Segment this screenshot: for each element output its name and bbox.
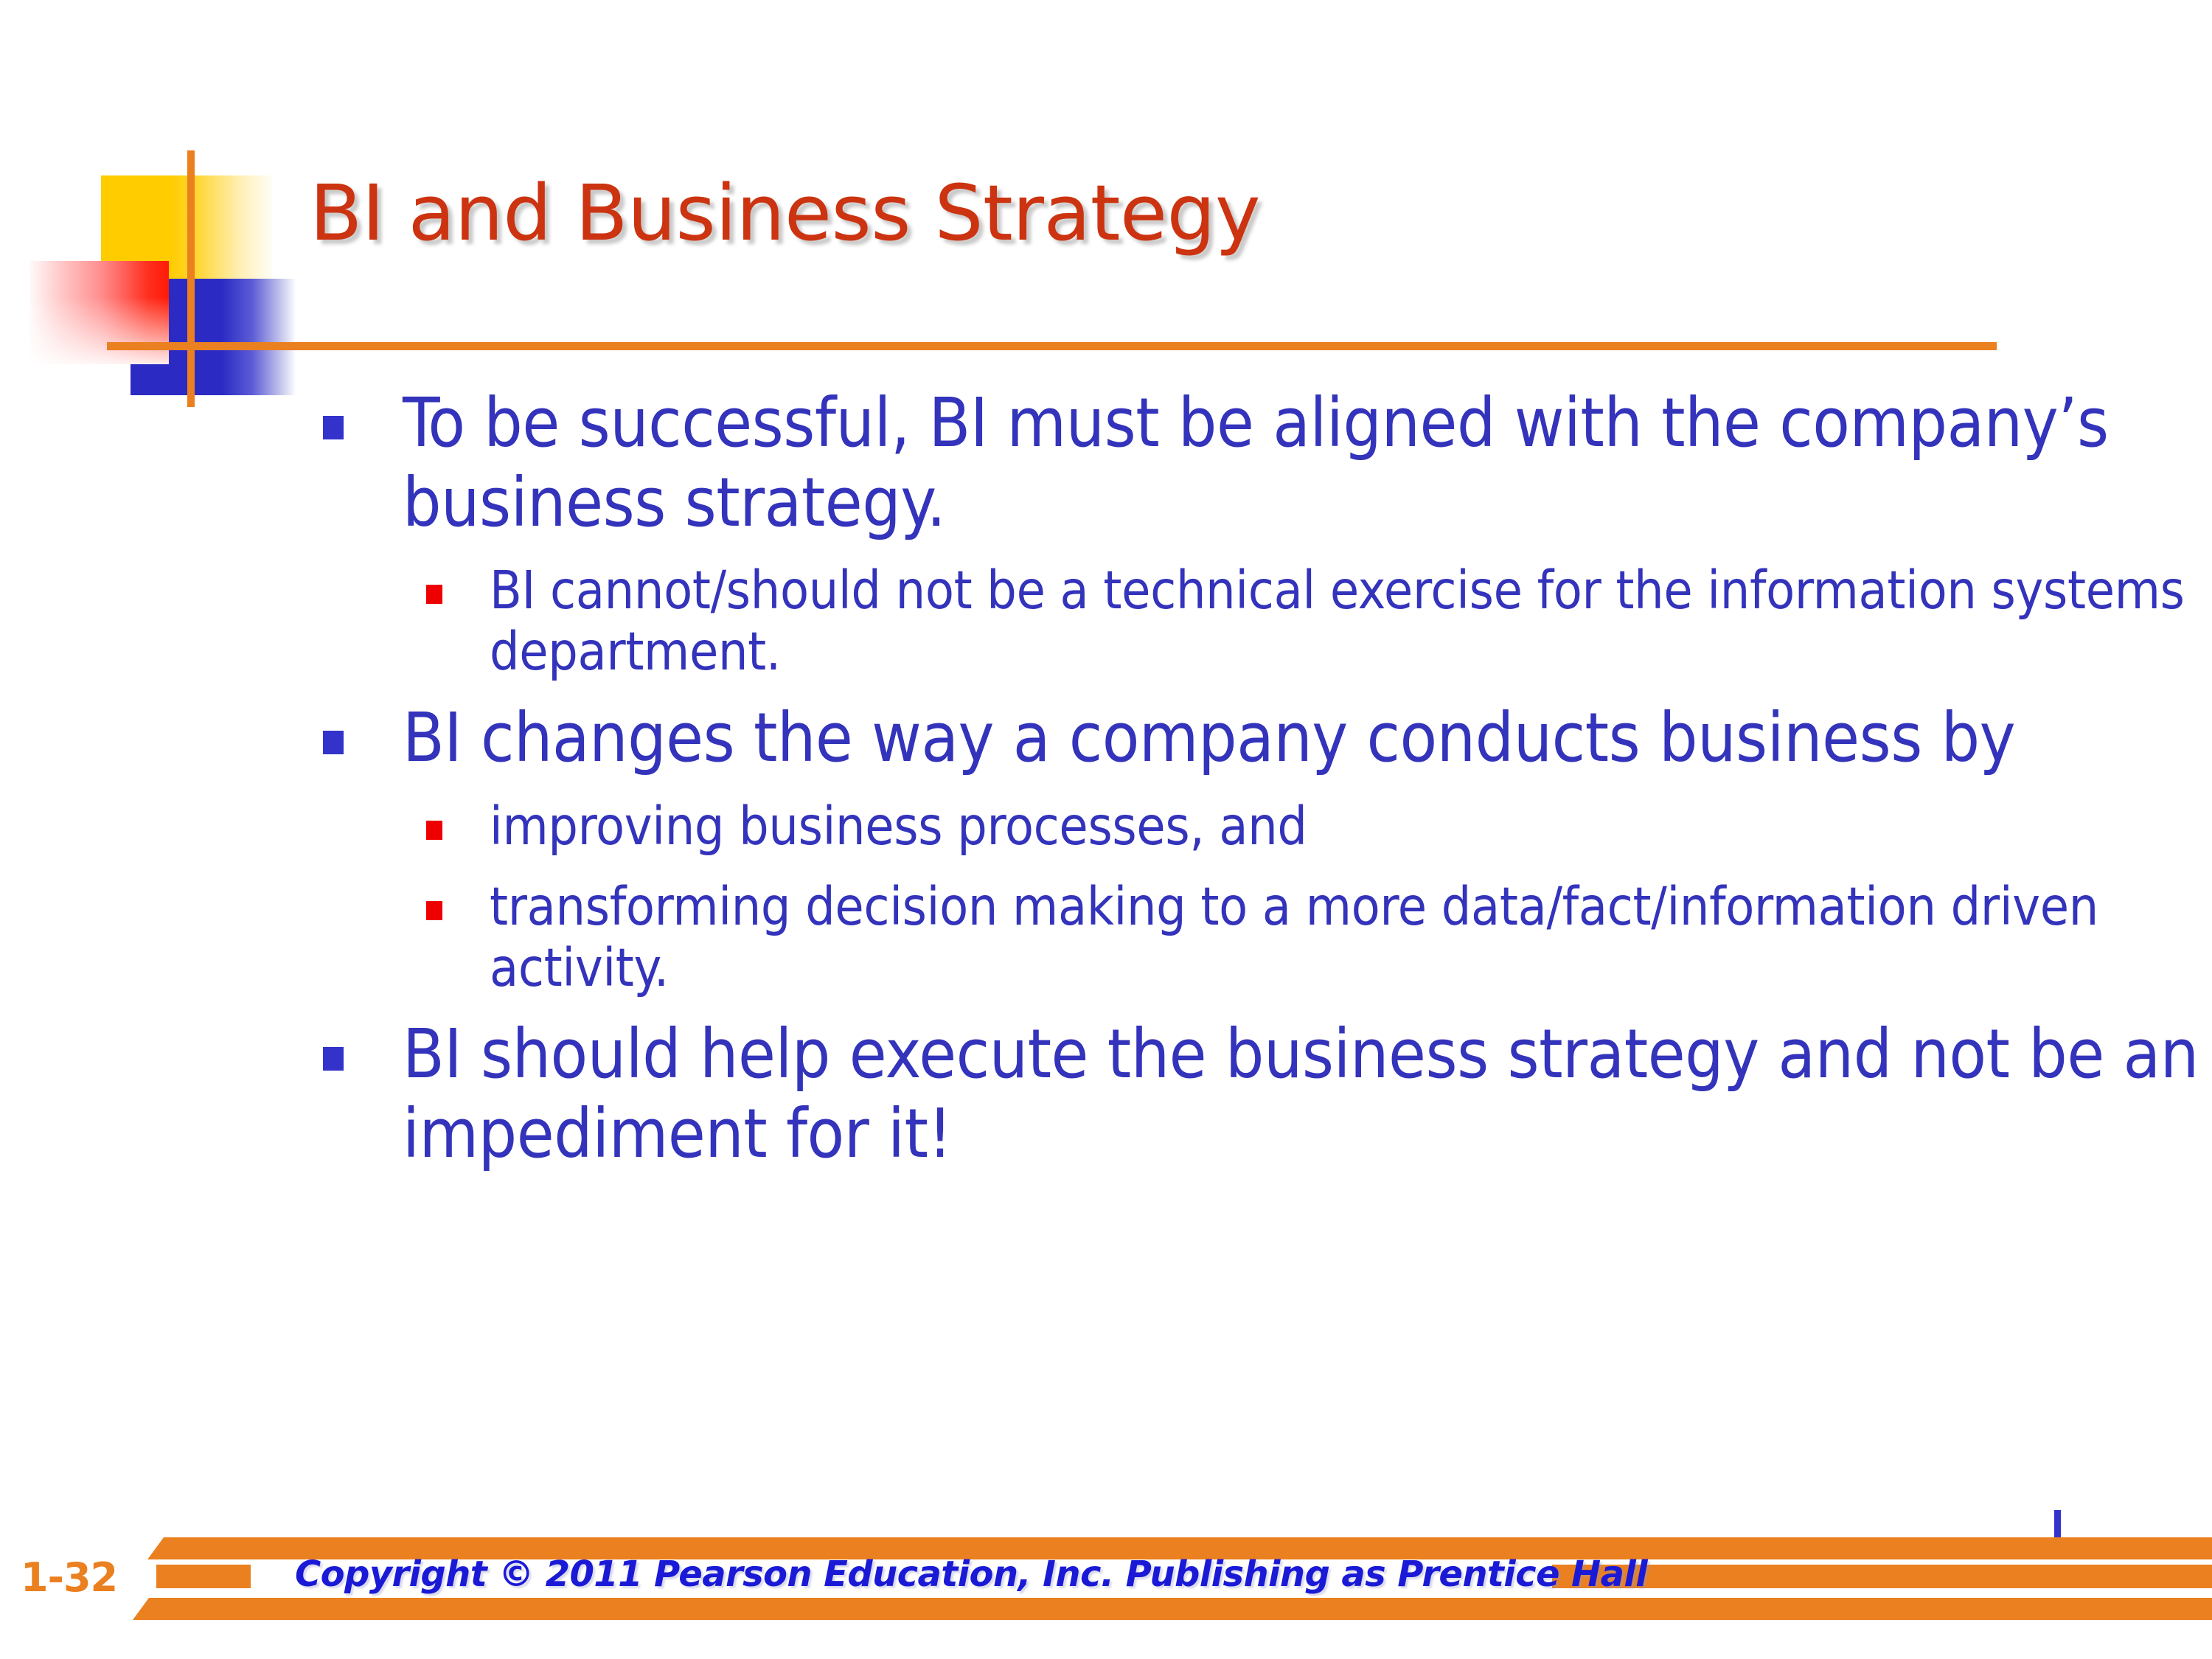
footer-chip-right <box>1552 1565 2212 1588</box>
slide-canvas: BI and Business Strategy To be successfu… <box>0 0 2212 1659</box>
sub-bullet-square-icon <box>426 901 442 920</box>
sub-bullet-square-icon <box>426 585 442 604</box>
footer-bar-bottom <box>133 1598 2212 1620</box>
title-underline-rule <box>107 342 1997 350</box>
copyright-notice: Copyright © 2011 Pearson Education, Inc.… <box>295 1554 1647 1595</box>
spacer <box>0 857 2212 876</box>
orange-vertical-line <box>187 150 195 407</box>
list-item-text: To be successful, BI must be aligned wit… <box>403 383 2109 542</box>
list-item: BI cannot/should not be a technical exer… <box>0 560 2185 682</box>
bullet-square-icon <box>323 416 344 439</box>
orange-horizontal-line-segment <box>107 342 203 350</box>
list-item: To be successful, BI must be aligned wit… <box>0 383 2212 542</box>
list-item-text: transforming decision making to a more d… <box>490 876 2098 998</box>
list-item-text: BI changes the way a company conducts bu… <box>403 698 2015 777</box>
slide-title: BI and Business Strategy <box>310 175 1260 251</box>
footer-blue-tick <box>2054 1510 2061 1541</box>
footer-chip-left <box>156 1565 251 1588</box>
list-item: transforming decision making to a more d… <box>0 876 2185 998</box>
spacer <box>0 778 2212 796</box>
spacer <box>0 998 2212 1015</box>
list-item: improving business processes, and <box>0 796 2185 857</box>
bullet-list: To be successful, BI must be aligned wit… <box>0 383 2212 1173</box>
list-item-text: improving business processes, and <box>490 796 1307 857</box>
spacer <box>0 542 2212 560</box>
list-item-text: BI should help execute the business stra… <box>403 1015 2199 1173</box>
sub-bullet-square-icon <box>426 821 442 840</box>
spacer <box>0 682 2212 698</box>
page-number: 1-32 <box>21 1554 117 1601</box>
list-item: BI changes the way a company conducts bu… <box>0 698 2212 778</box>
bullet-square-icon <box>323 1047 344 1071</box>
list-item: BI should help execute the business stra… <box>0 1015 2212 1173</box>
list-item-text: BI cannot/should not be a technical exer… <box>490 560 2185 682</box>
bullet-square-icon <box>323 731 344 754</box>
